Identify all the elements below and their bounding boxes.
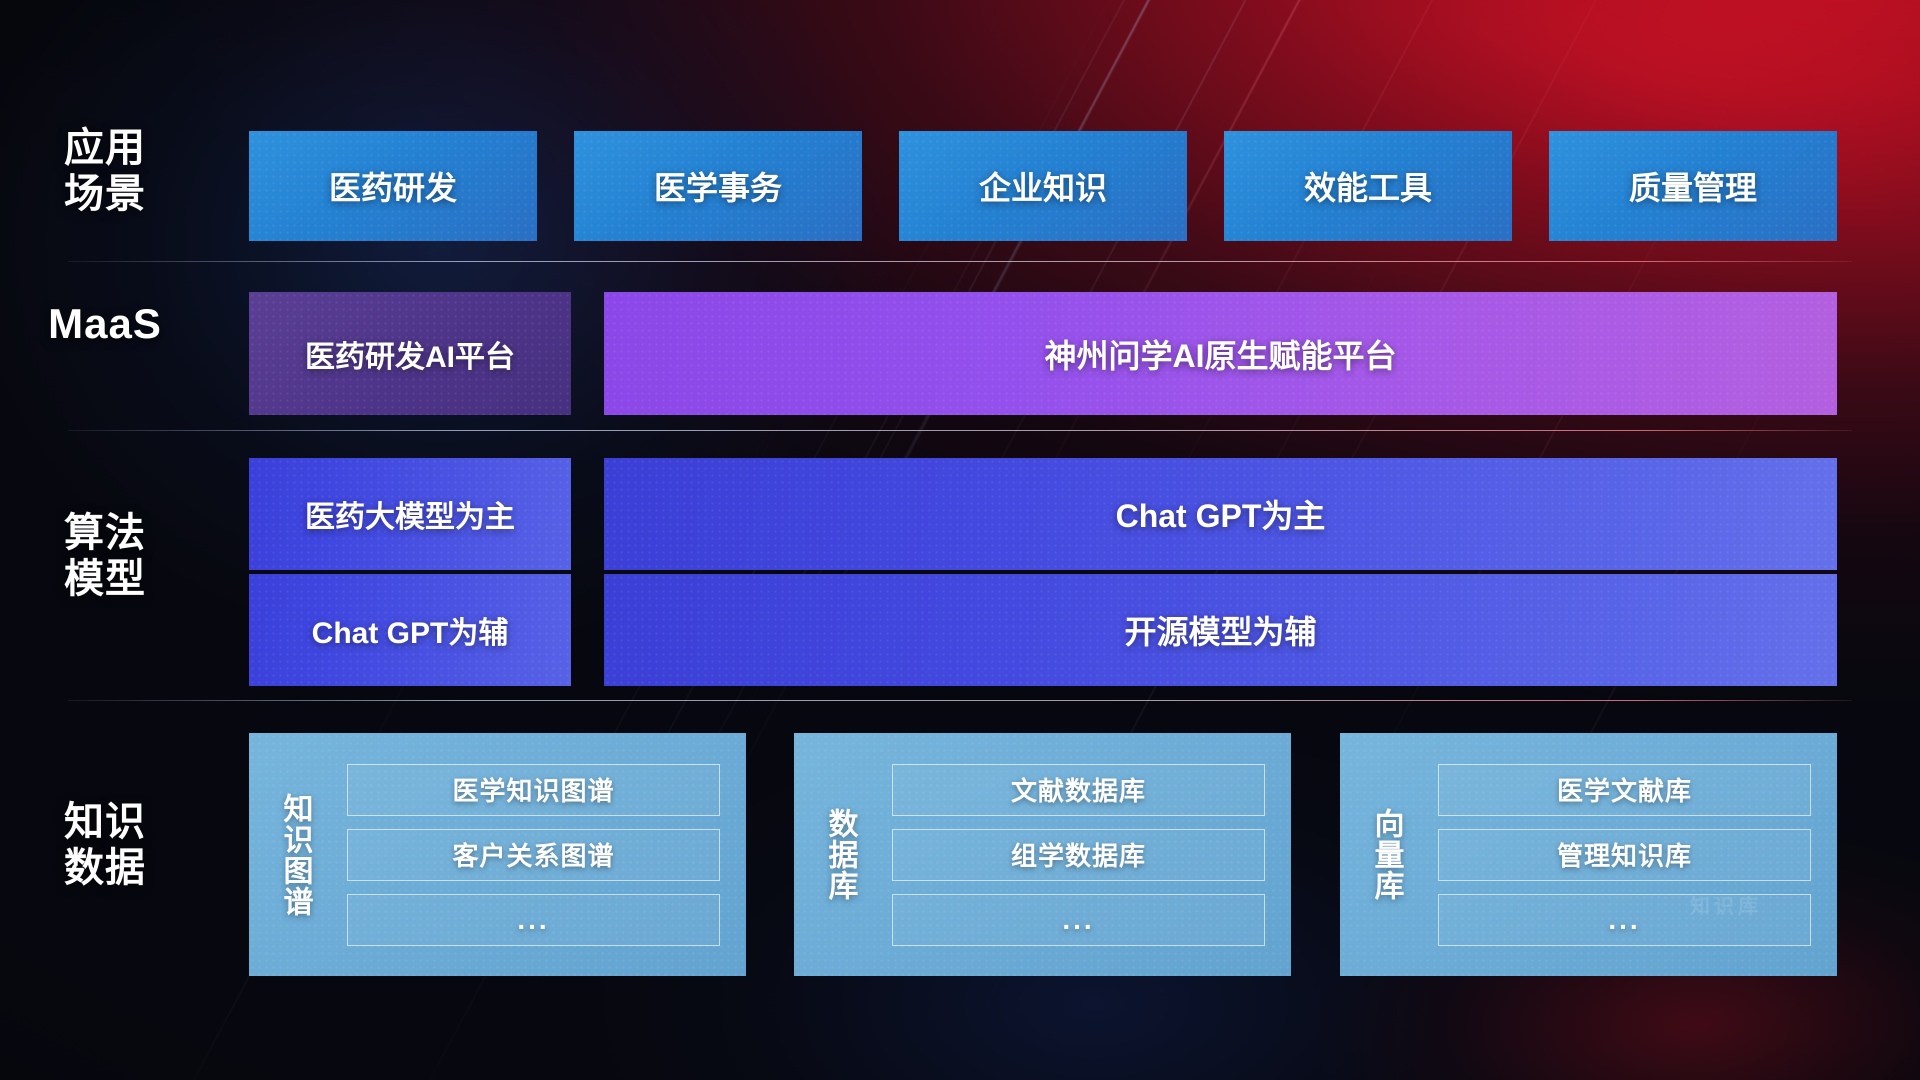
algo-box-opensource-secondary[interactable]: 开源模型为辅 [604,574,1837,686]
knowledge-panel-graph[interactable]: 知识图谱 医学知识图谱 客户关系图谱 ... [249,733,746,976]
knowledge-panel-side-label: 数据库 [794,733,886,976]
app-box-label: 质量管理 [1629,163,1757,209]
app-box-label: 企业知识 [979,163,1107,209]
row-label-algorithm-model: 算法 模型 [0,511,210,602]
app-box-2[interactable]: 企业知识 [899,131,1187,241]
algo-box-label: 医药大模型为主 [305,492,515,536]
row-label-knowledge-data: 知识 数据 [0,800,210,891]
app-box-4[interactable]: 质量管理 [1549,131,1837,241]
knowledge-item-list: 文献数据库 组学数据库 ... [886,733,1291,976]
row-label-maas: MaaS [0,300,210,348]
knowledge-item-list: 医学文献库 管理知识库 ... [1432,733,1837,976]
maas-box-shenzhou-platform[interactable]: 神州问学AI原生赋能平台 [604,292,1837,415]
row-application-scenario: 应用 场景 医药研发 医学事务 企业知识 效能工具 质量管理 [0,0,1920,262]
maas-box-label: 神州问学AI原生赋能平台 [1044,331,1396,377]
knowledge-item[interactable]: 文献数据库 [892,764,1265,816]
knowledge-item-more[interactable]: ... [892,894,1265,946]
maas-box-medical-platform[interactable]: 医药研发AI平台 [249,292,571,415]
app-box-0[interactable]: 医药研发 [249,131,537,241]
row-label-application-scenario: 应用 场景 [0,126,210,217]
algo-box-label: Chat GPT为辅 [312,608,509,652]
knowledge-item[interactable]: 管理知识库 [1438,829,1811,881]
row-knowledge-data: 知识 数据 知识图谱 医学知识图谱 客户关系图谱 ... 数据库 文献数据库 组… [0,700,1920,1010]
app-box-1[interactable]: 医学事务 [574,131,862,241]
knowledge-item[interactable]: 组学数据库 [892,829,1265,881]
algo-box-label: Chat GPT为主 [1116,491,1326,537]
app-box-label: 医学事务 [654,163,782,209]
algo-box-chatgpt-primary[interactable]: Chat GPT为主 [604,458,1837,570]
app-box-label: 医药研发 [329,163,457,209]
maas-box-label: 医药研发AI平台 [305,332,515,376]
knowledge-item[interactable]: 客户关系图谱 [347,829,720,881]
algo-box-chatgpt-secondary[interactable]: Chat GPT为辅 [249,574,571,686]
knowledge-panel-side-label: 向量库 [1340,733,1432,976]
app-box-3[interactable]: 效能工具 [1224,131,1512,241]
architecture-diagram: 应用 场景 医药研发 医学事务 企业知识 效能工具 质量管理 MaaS 医药研发… [0,0,1920,1080]
knowledge-item[interactable]: 医学知识图谱 [347,764,720,816]
algo-box-medical-llm[interactable]: 医药大模型为主 [249,458,571,570]
knowledge-item-more[interactable]: ... [347,894,720,946]
algo-box-label: 开源模型为辅 [1124,607,1316,653]
knowledge-panel-side-label: 知识图谱 [249,733,341,976]
row-algorithm-model: 算法 模型 医药大模型为主 Chat GPT为主 Chat GPT为辅 开源模型… [0,430,1920,700]
knowledge-panel-vector[interactable]: 向量库 医学文献库 管理知识库 ... [1340,733,1837,976]
knowledge-item-list: 医学知识图谱 客户关系图谱 ... [341,733,746,976]
knowledge-panel-database[interactable]: 数据库 文献数据库 组学数据库 ... [794,733,1291,976]
row-maas: MaaS 医药研发AI平台 神州问学AI原生赋能平台 [0,261,1920,430]
knowledge-item[interactable]: 医学文献库 [1438,764,1811,816]
app-box-label: 效能工具 [1304,163,1432,209]
knowledge-item-more[interactable]: ... [1438,894,1811,946]
